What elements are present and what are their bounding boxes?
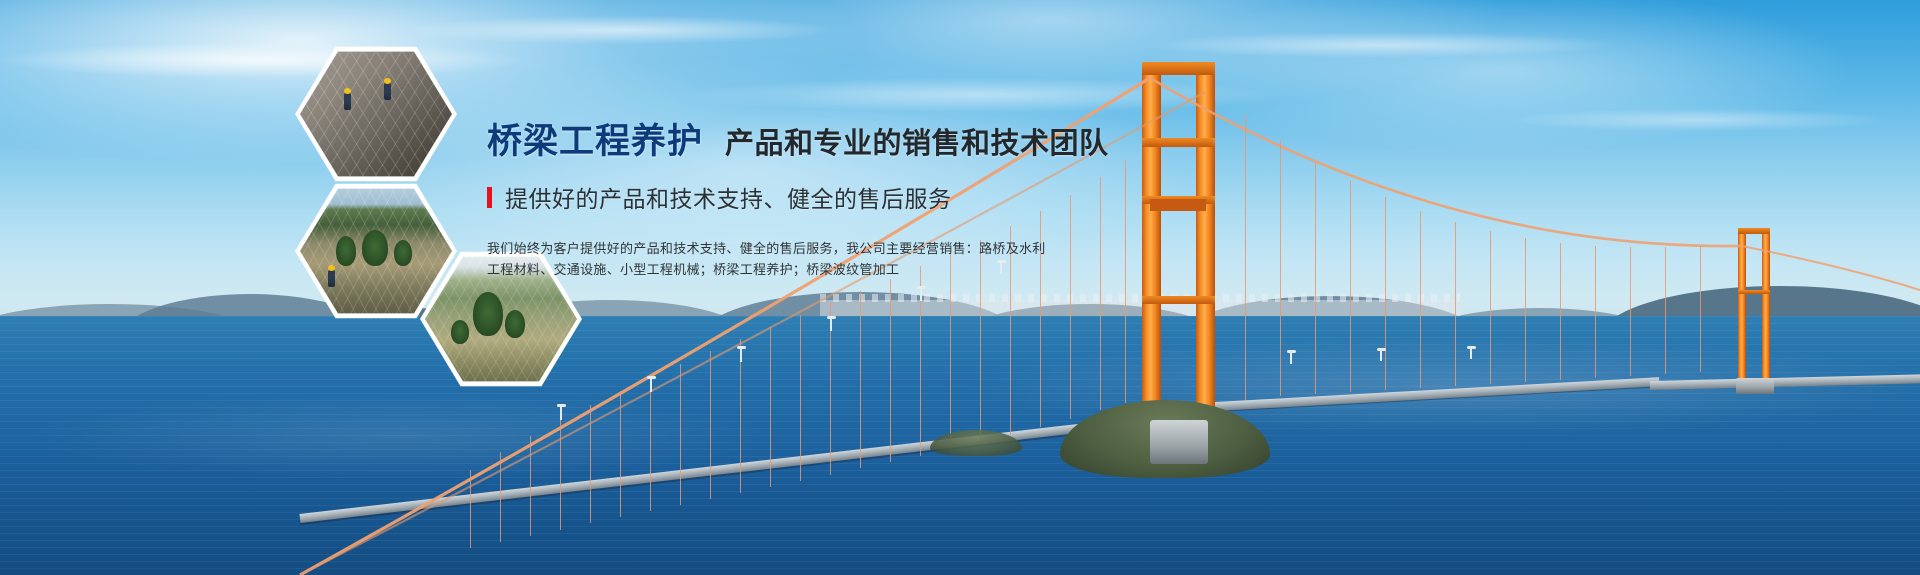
bridge-lamp xyxy=(1380,350,1382,361)
tree-shape xyxy=(505,310,525,338)
body-line-2: 工程材料、交通设施、小型工程机械；桥梁工程养护；桥梁波纹管加工 xyxy=(487,259,1247,280)
cable-hanger xyxy=(740,339,741,493)
cable-hanger xyxy=(1280,140,1281,396)
cable-hanger xyxy=(1525,238,1526,382)
cable-hanger xyxy=(1385,197,1386,390)
cable-hanger xyxy=(680,364,681,505)
cable-hanger xyxy=(590,405,591,523)
cable-hanger xyxy=(1630,247,1631,376)
tree-shape xyxy=(336,236,356,266)
tree-shape xyxy=(451,320,469,344)
tree-shape xyxy=(473,292,503,336)
cable-hanger xyxy=(800,315,801,481)
cable-hanger xyxy=(650,377,651,511)
cable-hanger xyxy=(620,391,621,517)
photo-rock-slope xyxy=(300,49,452,179)
hero-banner: 桥梁工程养护 产品和专业的销售和技术团队 提供好的产品和技术支持、健全的售后服务… xyxy=(0,0,1920,575)
cable-hanger xyxy=(770,327,771,487)
cable-hanger xyxy=(950,253,951,449)
headline-sub-text: 产品和专业的销售和技术团队 xyxy=(725,130,1109,159)
cable-hanger xyxy=(1560,243,1561,380)
cable-hanger xyxy=(470,470,471,548)
worker-figure xyxy=(328,270,335,287)
bridge-pier-main xyxy=(1150,420,1208,464)
cable-hanger xyxy=(560,420,561,530)
cable-hanger xyxy=(890,279,891,462)
bridge-lamp xyxy=(830,318,832,331)
cable-hanger xyxy=(1700,246,1701,372)
main-suspension-cables xyxy=(0,0,1920,575)
bridge-lamp xyxy=(650,378,652,392)
cable-hanger xyxy=(530,436,531,536)
bridge-lamp xyxy=(1470,348,1472,359)
banner-copy-block: 桥梁工程养护 产品和专业的销售和技术团队 提供好的产品和技术支持、健全的售后服务… xyxy=(487,124,1247,280)
bridge-lamp xyxy=(740,348,742,362)
cable-hanger xyxy=(1595,246,1596,378)
tree-shape xyxy=(362,230,388,266)
body-line-1: 我们始终为客户提供好的产品和技术支持、健全的售后服务，我公司主要经营销售：路桥及… xyxy=(487,238,1247,259)
cable-hanger xyxy=(500,452,501,542)
subtitle-text: 提供好的产品和技术支持、健全的售后服务 xyxy=(505,180,952,214)
body-paragraph: 我们始终为客户提供好的产品和技术支持、健全的售后服务，我公司主要经营销售：路桥及… xyxy=(487,238,1247,280)
bridge-pier-far xyxy=(1736,378,1774,394)
bridge-lamp xyxy=(920,288,922,301)
cable-hanger xyxy=(1490,231,1491,384)
tree-shape xyxy=(394,240,412,266)
suspension-bridge xyxy=(0,0,1920,575)
subtitle-row: 提供好的产品和技术支持、健全的售后服务 xyxy=(487,180,1247,214)
cable-hanger xyxy=(710,351,711,499)
worker-figure xyxy=(384,83,391,100)
cable-hanger xyxy=(1315,162,1316,394)
cable-hanger xyxy=(1420,211,1421,388)
hex-photo-rock-slope-mesh-installation[interactable] xyxy=(295,44,457,184)
headline-main-text: 桥梁工程养护 xyxy=(487,124,703,159)
cable-hanger xyxy=(860,291,861,468)
worker-figure xyxy=(344,93,351,110)
bridge-lamp xyxy=(1290,352,1292,364)
headline-row: 桥梁工程养护 产品和专业的销售和技术团队 xyxy=(487,124,1247,159)
cable-hanger xyxy=(1350,181,1351,392)
cable-hanger xyxy=(1455,222,1456,386)
cable-hanger xyxy=(1665,247,1666,374)
red-accent-bar-icon xyxy=(487,187,492,208)
